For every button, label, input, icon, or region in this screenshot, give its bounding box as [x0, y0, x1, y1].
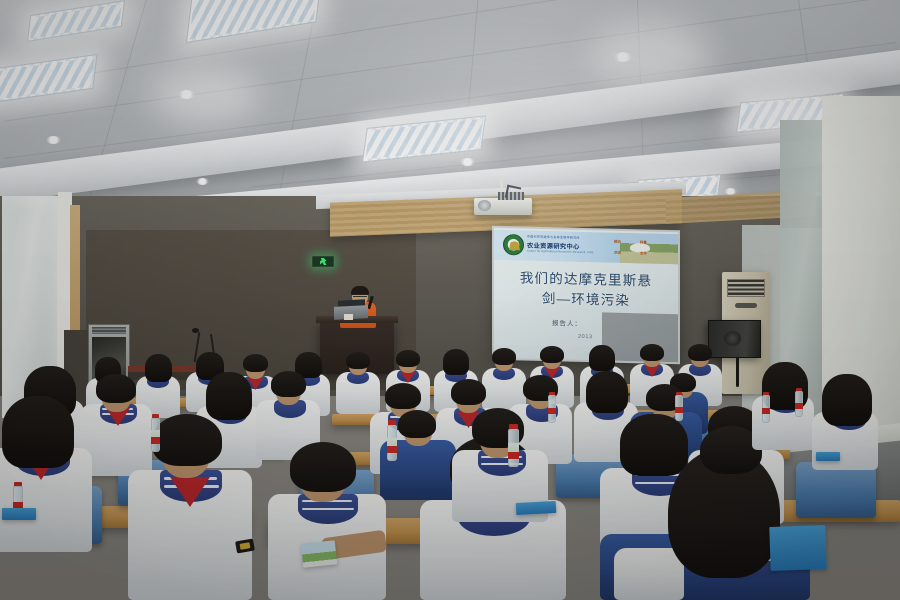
slide-presenter-label: 报告人： — [552, 317, 582, 328]
slide-tag-3: 交流 — [614, 250, 621, 255]
printed-booklet — [301, 540, 337, 567]
farmland-landscape-photo — [620, 233, 678, 264]
podium-placard — [344, 314, 353, 320]
ceiling-downlight — [46, 136, 61, 144]
cabinet-vent-grille — [92, 327, 126, 334]
eyeglasses — [353, 294, 367, 297]
slide-date-label: 2013 — [578, 334, 593, 340]
slide-tag-2: 科普 — [640, 239, 647, 244]
classroom-lecture-photo: 中国科学院遗传与发育生物学研究所 农业资源研究中心 Center for Agr… — [0, 0, 900, 600]
ceiling-downlight — [196, 178, 209, 185]
slide-title: 我们的达摩克里斯悬 剑—环境污染 — [494, 268, 678, 312]
antenna-base — [192, 328, 199, 333]
slide-tag-4: 合作 — [640, 250, 647, 255]
institute-seal-logo — [503, 234, 524, 256]
speaker-cone — [724, 331, 741, 346]
projector-lens — [478, 200, 491, 211]
slide-tag-1: 前沿 — [614, 239, 621, 244]
running-man-icon — [320, 258, 327, 265]
blue-folder — [2, 508, 36, 520]
air-conditioner-grille — [727, 279, 765, 297]
blue-folder — [816, 452, 840, 461]
slide-org-name-en: Center for Agricultural Resources Resear… — [527, 250, 593, 255]
air-conditioner-badge — [735, 303, 757, 308]
slide-org-tiny-line: 中国科学院遗传与发育生物学研究所 — [527, 235, 580, 240]
projector-cable — [505, 185, 521, 201]
slide-header-banner: 中国科学院遗传与发育生物学研究所 农业资源研究中心 Center for Agr… — [494, 230, 678, 264]
student-chair — [796, 462, 876, 518]
ceiling-downlight — [460, 158, 475, 166]
projected-slide: 中国科学院遗传与发育生物学研究所 农业资源研究中心 Center for Agr… — [494, 228, 678, 362]
emergency-exit-sign — [312, 256, 334, 267]
speaker-cable — [736, 357, 739, 387]
blue-folder — [769, 525, 827, 571]
blue-folder — [516, 501, 557, 515]
